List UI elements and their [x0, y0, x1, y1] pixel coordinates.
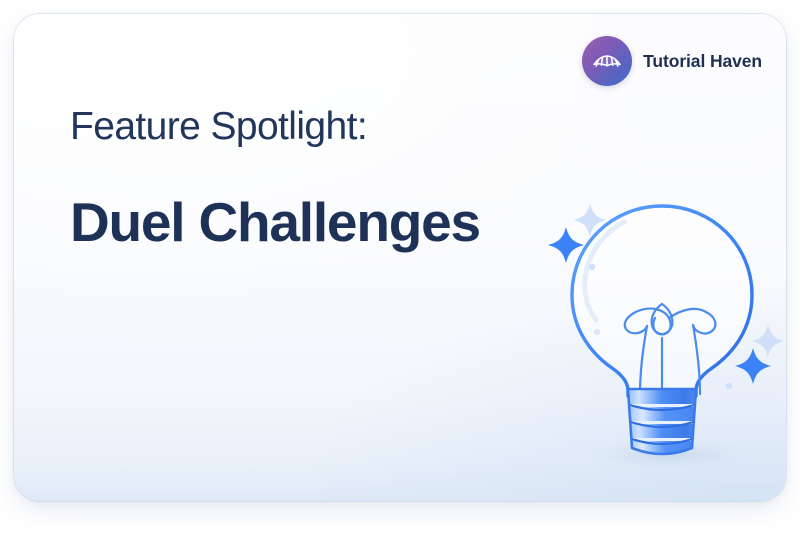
sparkle-dot-left [589, 264, 595, 270]
slide-canvas: Tutorial Haven Feature Spotlight: Duel C… [0, 0, 800, 533]
sparkle-right-blue [735, 348, 771, 384]
sparkle-left-blue [548, 227, 584, 263]
sparkle-top-left-pale [574, 204, 606, 236]
sparkle-right-pale [752, 325, 784, 357]
feature-spotlight-card: Tutorial Haven Feature Spotlight: Duel C… [14, 14, 786, 501]
sparkle-layer [14, 14, 786, 501]
sparkle-dot-right [726, 383, 732, 389]
